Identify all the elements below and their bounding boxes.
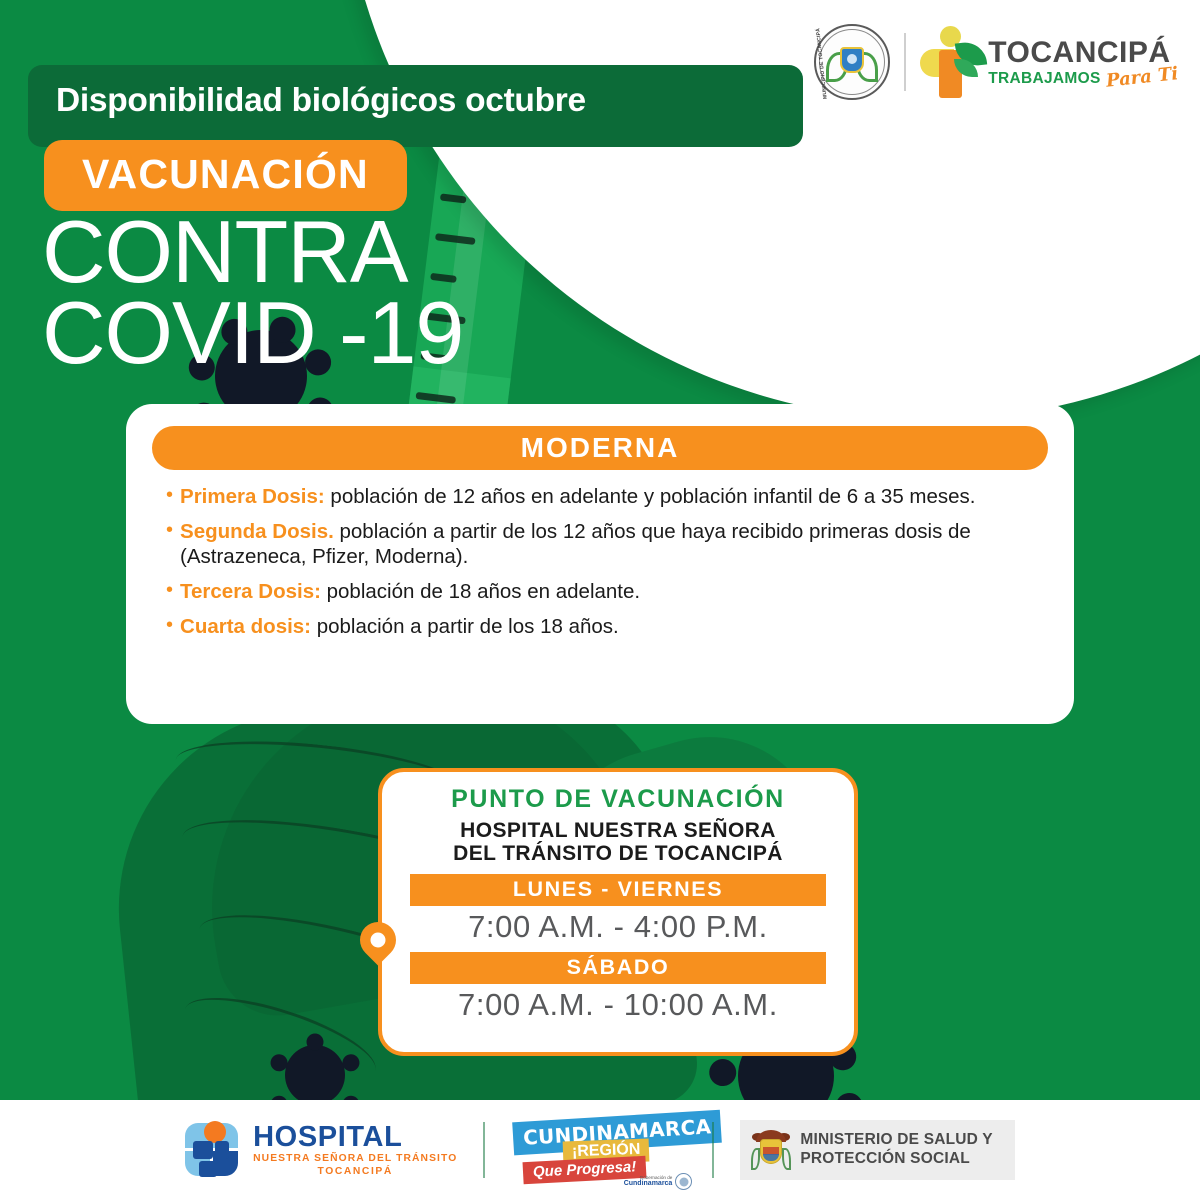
brand-tagline: TRABAJAMOS Para Ti (988, 69, 1178, 87)
minsalud-line-1: MINISTERIO DE SALUD Y (800, 1131, 993, 1150)
cundinamarca-logo: CUNDINAMARCA ¡REGIÓN Que Progresa! Gober… (511, 1112, 686, 1188)
tagline-script: Para Ti (1105, 65, 1179, 90)
gobernacion-seal-icon (675, 1173, 692, 1190)
dose-label: Cuarta dosis: (180, 615, 311, 638)
tagline-bold: TRABAJAMOS (988, 71, 1100, 87)
hospital-blue-block-icon (193, 1141, 213, 1159)
tocancipa-figure-icon (920, 26, 982, 98)
logo-divider (904, 33, 906, 91)
hospital-blue-block-icon (199, 1161, 217, 1177)
hospital-name-line-1: HOSPITAL NUESTRA SEÑORA (410, 819, 826, 843)
gobernacion-text: Gobernación de Cundinamarca (624, 1176, 673, 1188)
hospital-name-line-2: DEL TRÁNSITO DE TOCANCIPÁ (410, 842, 826, 866)
bullet-icon: • (166, 519, 173, 542)
dose-body: población de 18 años en adelante. (321, 580, 640, 603)
minsalud-logo: MINISTERIO DE SALUD Y PROTECCIÓN SOCIAL (740, 1120, 1015, 1180)
dose-description: Segunda Dosis. población a partir de los… (180, 519, 1040, 569)
list-item: • Primera Dosis: población de 12 años en… (166, 484, 1040, 509)
vaccination-point-title: PUNTO DE VACUNACIÓN (410, 786, 826, 814)
vacunacion-chip: VACUNACIÓN (44, 140, 407, 211)
gobernacion-name: Cundinamarca (624, 1180, 673, 1187)
minsalud-line-2: PROTECCIÓN SOCIAL (800, 1150, 993, 1169)
list-item: • Cuarta dosis: población a partir de lo… (166, 614, 1040, 639)
vaccination-point-card: PUNTO DE VACUNACIÓN HOSPITAL NUESTRA SEÑ… (378, 768, 858, 1056)
hospital-subtitle-2: TOCANCIPÁ (253, 1167, 457, 1177)
tocancipa-wordmark: TOCANCIPÁ TRABAJAMOS Para Ti (988, 38, 1178, 87)
footer-logo-bar: HOSPITAL NUESTRA SEÑORA DEL TRÁNSITO TOC… (0, 1100, 1200, 1200)
title-line-2: COVID -19 (42, 293, 463, 374)
bullet-icon: • (166, 579, 173, 602)
saturday-hours: 7:00 A.M. - 10:00 A.M. (410, 987, 826, 1023)
list-item: • Segunda Dosis. población a partir de l… (166, 519, 1040, 569)
laurel-branch-icon (751, 1148, 760, 1170)
moderna-header-bar: MODERNA (152, 426, 1048, 470)
municipality-seal-icon: MUNICIPIO DE TOCANCIPÁ (814, 24, 890, 100)
footer-divider (712, 1122, 714, 1178)
dose-label: Segunda Dosis. (180, 520, 334, 543)
saturday-label-bar: SÁBADO (410, 952, 826, 984)
hospital-mark-icon (185, 1121, 243, 1179)
dose-label: Tercera Dosis: (180, 580, 321, 603)
minsalud-wordmark: MINISTERIO DE SALUD Y PROTECCIÓN SOCIAL (800, 1131, 993, 1168)
tocancipa-brand-logo: TOCANCIPÁ TRABAJAMOS Para Ti (920, 26, 1178, 98)
bullet-icon: • (166, 484, 173, 507)
weekday-hours: 7:00 A.M. - 4:00 P.M. (410, 909, 826, 945)
hospital-wordmark: HOSPITAL NUESTRA SEÑORA DEL TRÁNSITO TOC… (253, 1123, 457, 1177)
dose-label: Primera Dosis: (180, 485, 325, 508)
list-item: • Tercera Dosis: población de 18 años en… (166, 579, 1040, 604)
footer-divider (483, 1122, 485, 1178)
poster-canvas: MUNICIPIO DE TOCANCIPÁ TOCANCIPÁ TRABAJA… (0, 0, 1200, 1200)
colombia-coat-of-arms-icon (754, 1130, 788, 1170)
dose-body: población de 12 años en adelante y pobla… (325, 485, 976, 508)
dose-description: Primera Dosis: población de 12 años en a… (180, 484, 975, 509)
gobernacion-mark: Gobernación de Cundinamarca (624, 1173, 693, 1190)
hospital-subtitle-1: NUESTRA SEÑORA DEL TRÁNSITO (253, 1154, 457, 1164)
hospital-blue-block-icon (215, 1141, 229, 1159)
header-logo-group: MUNICIPIO DE TOCANCIPÁ TOCANCIPÁ TRABAJA… (814, 24, 1178, 100)
bullet-icon: • (166, 614, 173, 637)
brand-name: TOCANCIPÁ (988, 38, 1178, 68)
dose-description: Tercera Dosis: población de 18 años en a… (180, 579, 640, 604)
hospital-name: HOSPITAL (253, 1123, 457, 1152)
title-line-1: CONTRA (42, 212, 463, 293)
seal-shield-icon (840, 47, 864, 73)
hospital-orange-dot-icon (204, 1121, 226, 1143)
dose-body: población a partir de los 18 años. (311, 615, 619, 638)
page-title: CONTRA COVID -19 (42, 212, 463, 374)
dose-description: Cuarta dosis: población a partir de los … (180, 614, 619, 639)
shield-body-icon (760, 1139, 782, 1164)
moderna-heading: MODERNA (521, 432, 680, 464)
weekday-label-bar: LUNES - VIERNES (410, 874, 826, 906)
availability-label: Disponibilidad biológicos octubre (56, 82, 586, 120)
laurel-branch-icon (782, 1148, 791, 1170)
hospital-logo: HOSPITAL NUESTRA SEÑORA DEL TRÁNSITO TOC… (185, 1121, 457, 1179)
virus-particle-icon (255, 1015, 375, 1100)
dose-list: • Primera Dosis: población de 12 años en… (152, 484, 1048, 639)
shield-base-icon (763, 1154, 779, 1161)
moderna-info-card: MODERNA • Primera Dosis: población de 12… (126, 404, 1074, 724)
vacunacion-chip-label: VACUNACIÓN (82, 154, 369, 195)
